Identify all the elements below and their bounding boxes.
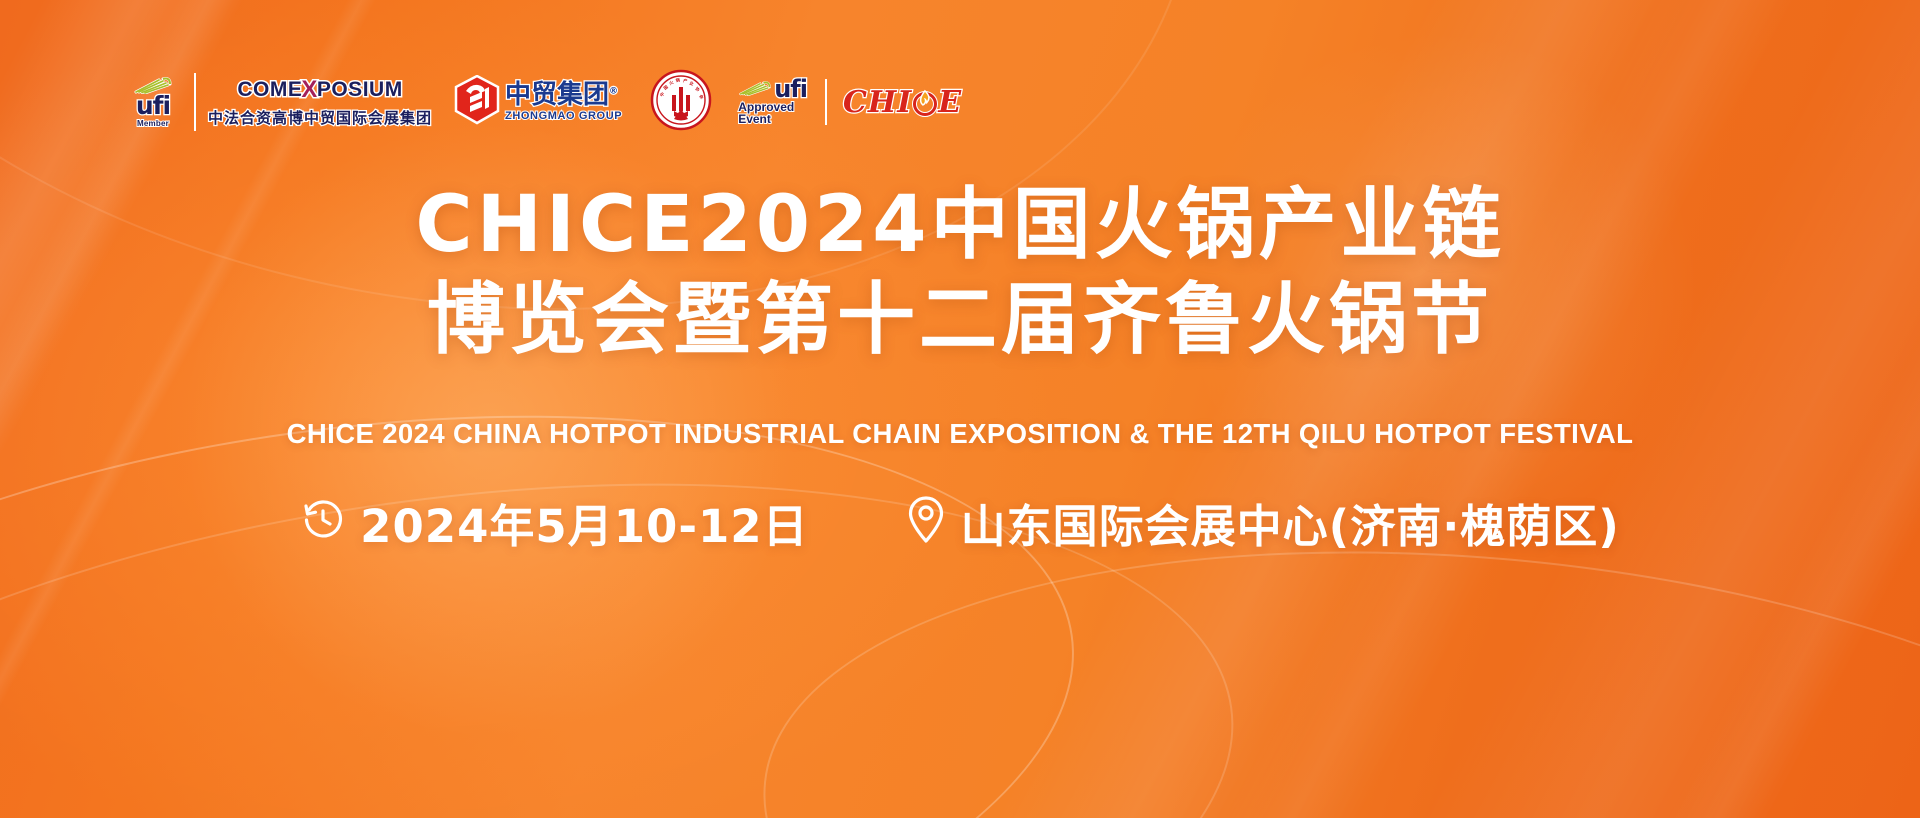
page-title-english: CHICE 2024 CHINA HOTPOT INDUSTRIAL CHAIN… [0,418,1920,450]
logo-association-seal: 中 国 火 锅 产 业 协 会 [650,69,712,136]
light-streak [860,0,1800,818]
comexposium-word-right: POSIUM [317,78,403,102]
light-streak [1511,0,1920,818]
title-line-2: 博览会暨第十二届齐鲁火锅节 [0,273,1920,368]
ufi-approved-top: ufi [738,79,807,101]
comexposium-chinese-name: 中法合资高博中贸国际会展集团 [208,107,432,128]
logo-comexposium: COME X POSIUM 中法合资高博中贸国际会展集团 [208,76,432,128]
event-info-row: 2024年5月10-12日 山东国际会展中心(济南·槐荫区) [0,490,1920,555]
shandong-association-seal-icon: 中 国 火 锅 产 业 协 会 [650,69,712,136]
zhongmao-text: 中贸集团® ZHONGMAO GROUP [505,82,622,122]
chice-text-right: E [938,85,962,120]
comexposium-wordmark: COME X POSIUM [237,76,402,104]
chice-text-left: CHI [843,85,912,120]
location-pin-icon [905,494,947,551]
event-date: 2024年5月10-12日 [360,490,808,555]
logo-ufi-member: ufi Member [124,76,182,128]
wave-line [0,329,1116,818]
event-date-item: 2024年5月10-12日 [300,490,808,555]
ufi-approved-inner: ufi Approved Event [738,79,807,125]
event-venue: 山东国际会展中心(济南·槐荫区) [961,490,1620,555]
logo-ufi-approved-event: ufi Approved Event [738,79,807,125]
wave-line [0,390,1277,818]
comexposium-word-left: COME [237,78,302,102]
ufi-approved-wordmark: ufi [774,79,807,101]
logo-chice: CHI E [843,85,962,120]
clock-icon [300,497,346,548]
ufi-approved-line2: Event [738,113,807,125]
zhongmao-english-name: ZHONGMAO GROUP [505,110,622,122]
light-streak [1073,0,1907,818]
comexposium-x-glyph: X [301,76,318,104]
zhongmao-chinese-name: 中贸集团® [505,82,622,108]
ufi-wing-icon [738,80,772,101]
page-title: CHICE2024中国火锅产业链 博览会暨第十二届齐鲁火锅节 [0,178,1920,368]
chice-wordmark: CHI E [843,85,962,120]
title-line-1: CHICE2024中国火锅产业链 [0,178,1920,273]
logo-divider [194,73,196,131]
ufi-member-wordmark: ufi [136,94,170,118]
registered-mark-icon: ® [609,86,618,96]
event-banner: ufi Member COME X POSIUM 中法合资高博中贸国际会展集团 [0,0,1920,818]
ufi-member-subtitle: Member [137,119,169,128]
zhongmao-chinese-text: 中贸集团 [505,80,609,110]
ufi-approved-line1: Approved [738,101,807,113]
zhongmao-horse-mark-icon [454,75,500,130]
sponsor-logo-bar: ufi Member COME X POSIUM 中法合资高博中贸国际会展集团 [124,66,962,138]
logo-zhongmao-group: 中贸集团® ZHONGMAO GROUP [454,75,622,130]
chice-flame-icon [912,85,938,120]
light-streak [1294,0,1920,818]
event-venue-item: 山东国际会展中心(济南·槐荫区) [905,490,1620,555]
logo-divider [825,79,827,125]
